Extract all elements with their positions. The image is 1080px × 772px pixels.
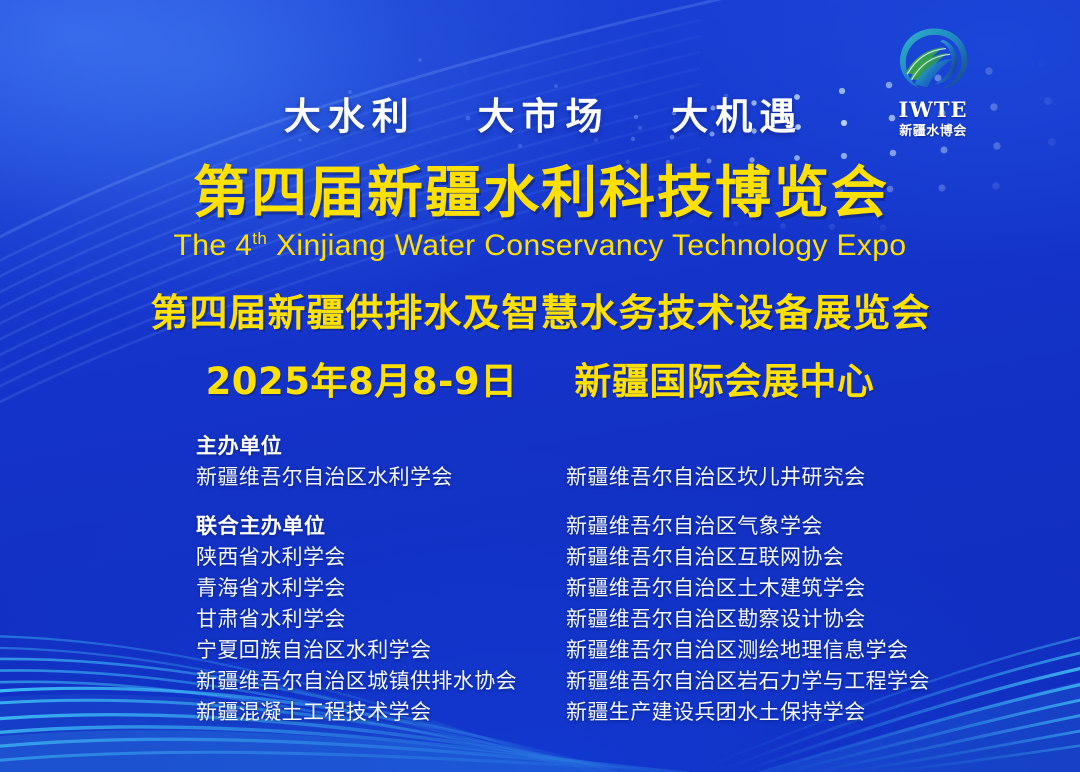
english-title-ordinal: th [252, 229, 267, 248]
co-host-row: 宁夏回族自治区水利学会 新疆维吾尔自治区测绘地理信息学会 [196, 634, 986, 665]
slogan-line: 大水利 大市场 大机遇 [0, 97, 1080, 138]
organizers-block: 主办单位 新疆维吾尔自治区水利学会 新疆维吾尔自治区坎儿井研究会 联合主办单位 … [196, 430, 986, 727]
host-left: 新疆维吾尔自治区水利学会 [196, 461, 566, 491]
co-host-heading: 联合主办单位 [196, 510, 566, 540]
host-right: 新疆维吾尔自治区坎儿井研究会 [566, 461, 986, 491]
co-host-left-3: 甘肃省水利学会 [196, 603, 566, 633]
co-host-left-5: 新疆维吾尔自治区城镇供排水协会 [196, 665, 566, 695]
english-title-rest: Xinjiang Water Conservancy Technology Ex… [276, 229, 906, 262]
co-host-right-4: 新疆维吾尔自治区测绘地理信息学会 [566, 634, 986, 664]
english-title: The 4th Xinjiang Water Conservancy Techn… [0, 229, 1080, 262]
host-row: 新疆维吾尔自治区水利学会 新疆维吾尔自治区坎儿井研究会 [196, 461, 986, 492]
co-host-row: 联合主办单位 新疆维吾尔自治区气象学会 [196, 510, 986, 541]
co-host-right-6: 新疆生产建设兵团水土保持学会 [566, 696, 986, 726]
main-title: 第四届新疆水利科技博览会 [0, 163, 1080, 226]
host-heading: 主办单位 [196, 430, 566, 460]
co-host-row: 新疆维吾尔自治区城镇供排水协会 新疆维吾尔自治区岩石力学与工程学会 [196, 665, 986, 696]
iwte-wave-logo-icon [890, 22, 976, 98]
expo-poster: IWTE 新疆水博会 大水利 大市场 大机遇 第四届新疆水利科技博览会 The … [0, 0, 1080, 772]
slogan-part-3: 大机遇 [671, 95, 803, 138]
co-host-right-5: 新疆维吾尔自治区岩石力学与工程学会 [566, 665, 986, 695]
co-host-row: 甘肃省水利学会 新疆维吾尔自治区勘察设计协会 [196, 603, 986, 634]
co-host-left-6: 新疆混凝土工程技术学会 [196, 696, 566, 726]
slogan-part-2: 大市场 [478, 95, 610, 138]
co-host-right-0: 新疆维吾尔自治区气象学会 [566, 510, 986, 540]
co-host-row: 陕西省水利学会 新疆维吾尔自治区互联网协会 [196, 541, 986, 572]
host-heading-row: 主办单位 [196, 430, 986, 461]
co-host-right-2: 新疆维吾尔自治区土木建筑学会 [566, 572, 986, 602]
co-host-left-1: 陕西省水利学会 [196, 541, 566, 571]
english-title-prefix: The 4 [174, 229, 253, 262]
sub-title: 第四届新疆供排水及智慧水务技术设备展览会 [0, 292, 1080, 335]
co-host-row: 新疆混凝土工程技术学会 新疆生产建设兵团水土保持学会 [196, 696, 986, 727]
date-venue-line: 2025年8月8-9日 新疆国际会展中心 [0, 361, 1080, 402]
co-host-left-4: 宁夏回族自治区水利学会 [196, 634, 566, 664]
event-date: 2025年8月8-9日 [206, 360, 518, 403]
co-host-left-2: 青海省水利学会 [196, 572, 566, 602]
co-host-right-3: 新疆维吾尔自治区勘察设计协会 [566, 603, 986, 633]
organizers-spacer [196, 492, 986, 510]
co-host-row: 青海省水利学会 新疆维吾尔自治区土木建筑学会 [196, 572, 986, 603]
slogan-part-1: 大水利 [284, 95, 416, 138]
co-host-right-1: 新疆维吾尔自治区互联网协会 [566, 541, 986, 571]
event-venue: 新疆国际会展中心 [574, 360, 874, 403]
